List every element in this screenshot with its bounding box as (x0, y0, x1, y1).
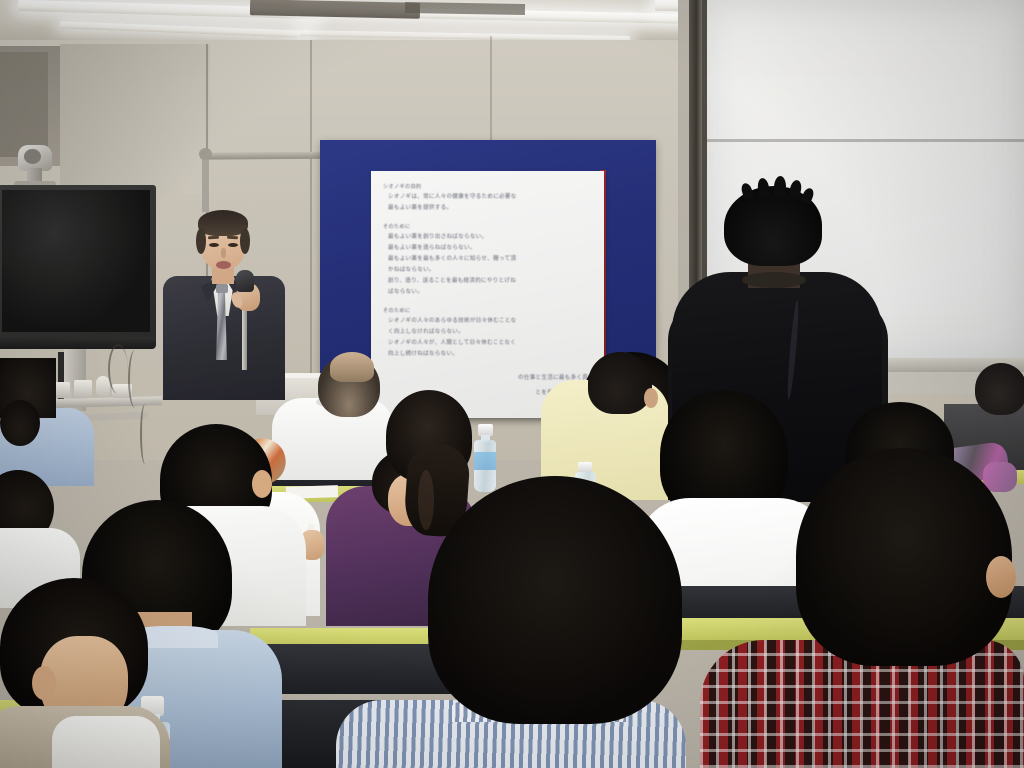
poster-line: 最もよい薬を創り出さねばならない。 (383, 233, 594, 242)
poster-line: かねばならない。 (383, 266, 594, 275)
cable (108, 344, 128, 394)
poster-heading-3: そのために (383, 307, 594, 315)
attendee-purple-patterned-cuff (983, 462, 1017, 492)
camera-lens-icon (24, 149, 41, 164)
presenter-hair-side (196, 228, 206, 254)
av-equipment-box (74, 380, 92, 398)
ponytail-strand (418, 470, 434, 530)
cable (128, 350, 142, 408)
poster-line: シオノギの人々のあらゆる技術が日々休むことな (383, 317, 594, 326)
attendee-ear (252, 470, 272, 498)
handheld-microphone-icon (236, 270, 254, 292)
presenter-tie-knot (216, 284, 228, 293)
presenter-nose (221, 248, 226, 258)
attendee-scalp (330, 352, 374, 382)
standing-attendee-collar (742, 272, 806, 288)
poster-line: 最もよい薬を造らねばならない。 (383, 244, 594, 253)
ceiling-air-vent (405, 2, 525, 15)
poster-line: 最もよい薬を最も多くの人々に知らせ、贈って頂 (383, 255, 594, 264)
poster-line: く向上しなければならない。 (383, 328, 594, 337)
whiteboard-seam (707, 139, 1024, 142)
hair-spike (774, 176, 787, 198)
attendee-head (0, 400, 40, 446)
attendee-ear (32, 666, 56, 700)
attendee-head (588, 352, 652, 414)
lecture-room-photo: シオノギの目的 シオノギは、常に人々の健康を守るために必要な 最もよい薬を提供す… (0, 0, 1024, 768)
presenter-eye (209, 243, 219, 247)
wall-rail-knob (199, 148, 212, 160)
attendee-ear (986, 556, 1016, 598)
bottle-label (474, 452, 496, 470)
presenter-eye (228, 243, 238, 247)
poster-line: 向上し続けねばならない。 (383, 350, 594, 359)
poster-heading-1: シオノギの目的 (383, 183, 594, 191)
attendee-head (975, 363, 1024, 415)
attendee-head (796, 448, 1012, 666)
poster-line: 最もよい薬を提供する。 (383, 204, 594, 213)
wall-panel-seam (310, 40, 312, 390)
poster-line: シオノギの人々が、人間として日々休むことなく (383, 339, 594, 348)
wall-corner (60, 44, 210, 194)
monitor-bezel-bottom (0, 337, 156, 349)
poster-line: ばならない。 (383, 288, 594, 297)
monitor-screen (2, 190, 150, 332)
attendee-head (428, 476, 682, 724)
cable (140, 404, 150, 464)
presenter-mouth (216, 261, 231, 269)
attendee-ear (644, 388, 658, 408)
poster-heading-2: そのために (383, 223, 594, 231)
attendee-inner-shirt (52, 716, 160, 768)
poster-line: 創り、造り、送ることを最も経済的にやりとげね (383, 277, 594, 286)
wall-rail-post (202, 152, 209, 212)
microphone-cable (242, 306, 247, 370)
poster-line: シオノギは、常に人々の健康を守るために必要な (383, 193, 594, 202)
presenter-hair-side (240, 228, 250, 254)
wall-alcove-shadow (0, 52, 48, 157)
